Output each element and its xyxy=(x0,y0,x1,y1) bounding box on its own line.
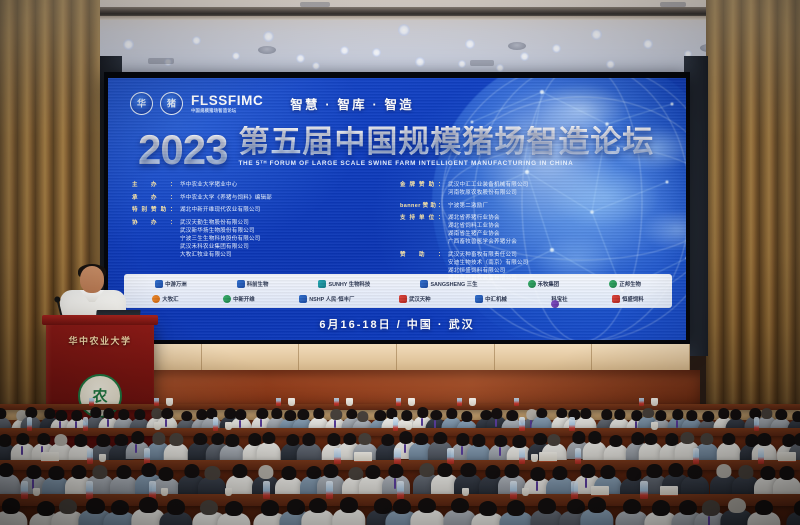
audience-head xyxy=(340,497,358,513)
podium-institution-name: 华中农业大学 xyxy=(46,334,154,347)
water-bottle xyxy=(569,417,575,431)
audience-torso xyxy=(0,474,20,495)
sponsor-logo: SANGSHENG 三生 xyxy=(420,280,477,288)
audience-head xyxy=(623,499,641,515)
ceiling-downlight-icon xyxy=(552,44,561,53)
audience-head xyxy=(580,408,591,419)
credit-value: 武汉天种畜牧有限责任公司 xyxy=(448,252,529,260)
audience-head xyxy=(54,434,67,446)
sponsor-logo-mark-icon xyxy=(237,280,245,288)
audience-head xyxy=(17,433,30,445)
sponsor-logo-mark-icon xyxy=(399,295,407,303)
paper-cup xyxy=(531,454,538,462)
podium-top-edge xyxy=(42,315,158,325)
ceiling-downlight-icon xyxy=(458,60,466,68)
conference-photo: 华 猪 FLSSFIMC 中国规模猪场智造论坛 智慧 · 智库 · 智造 202… xyxy=(0,0,800,525)
paper-cup xyxy=(651,398,658,406)
sponsor-logo-mark-icon xyxy=(528,280,536,288)
ceiling-downlight-icon xyxy=(398,24,410,36)
audience-torso xyxy=(297,443,322,461)
ceiling-vent xyxy=(148,58,174,64)
water-bottle xyxy=(640,481,647,499)
credit-label: 赞助： xyxy=(400,252,444,260)
sponsor-logo-mark-icon xyxy=(318,280,326,288)
sponsor-logo: 科宝社 xyxy=(551,295,567,303)
lanyard xyxy=(21,446,23,455)
credit-value: 宁波第二激励厂 xyxy=(448,203,488,211)
audience-head xyxy=(357,411,368,422)
name-placard xyxy=(591,486,609,496)
credit-row: 特别赞助：湖北中新开维现代农业有限公司 xyxy=(132,207,390,215)
audience-head xyxy=(552,466,567,480)
paper-cup xyxy=(651,422,658,430)
audience-member xyxy=(164,432,189,461)
audience-head xyxy=(538,498,556,514)
audience-torso xyxy=(164,443,189,461)
credit-row: 协办：武汉天勤生物股份有限公司武汉新华扬生物股份有限公司宁波三生生物科技股份有限… xyxy=(132,220,390,260)
audience-head xyxy=(494,435,507,447)
audience-head xyxy=(536,408,547,419)
credit-row: 承办：华中农业大学《养猪与饲料》编辑部 xyxy=(132,195,390,203)
water-bottle xyxy=(83,417,89,431)
forum-title-cn: 第五届中国规模猪场智造论坛 xyxy=(238,126,654,157)
audience-member xyxy=(580,496,614,525)
audience-head xyxy=(200,500,218,516)
credit-values: 华中农业大学《养猪与饲料》编辑部 xyxy=(180,195,272,203)
audience-head xyxy=(139,497,157,513)
audience-head xyxy=(74,434,87,446)
sponsor-logo-mark-icon xyxy=(299,295,307,303)
sponsor-logo-name: NSHP 人民·恒丰厂 xyxy=(309,295,354,303)
audience-torso xyxy=(752,443,777,461)
audience-head xyxy=(131,431,144,443)
audience-head xyxy=(116,465,131,479)
credit-label: 特别赞助： xyxy=(132,207,176,215)
credit-label: 金牌赞助： xyxy=(400,182,444,190)
audience-head xyxy=(366,465,381,479)
audience-member xyxy=(297,433,322,462)
audience-head xyxy=(755,500,773,516)
water-bottle xyxy=(571,481,578,499)
audience-head xyxy=(728,498,746,514)
credit-values: 武汉天勤生物股份有限公司武汉新华扬生物股份有限公司宁波三生生物科技股份有限公司武… xyxy=(180,220,261,260)
audience-head xyxy=(27,465,42,479)
forum-year: 2023 xyxy=(138,132,227,168)
lanyard xyxy=(495,419,497,427)
sponsor-logo: 中游万洲 xyxy=(155,280,187,288)
audience-head xyxy=(730,409,741,420)
audience-head xyxy=(205,466,220,480)
water-bottle xyxy=(754,417,760,431)
audience-head xyxy=(461,411,472,422)
sponsor-logo: NSHP 人民·恒丰厂 xyxy=(299,295,354,303)
ceiling-downlight-icon xyxy=(591,29,602,40)
credit-values: 武汉中汇工业装备机械有限公司河南牧原农牧股份有限公司 xyxy=(448,182,529,198)
paper-cup xyxy=(346,398,353,406)
sponsor-logo-mark-icon xyxy=(612,295,620,303)
sponsor-logo: 科前生物 xyxy=(237,280,269,288)
lanyard xyxy=(708,516,710,525)
event-date-location: 6月16-18日 / 中国 · 武汉 xyxy=(108,316,686,332)
water-bottle xyxy=(154,398,159,406)
water-bottle xyxy=(519,448,525,464)
audience-head xyxy=(415,433,428,445)
water-bottle xyxy=(21,481,28,499)
paper-cup xyxy=(522,488,529,496)
forum-title-en: THE 5ᵀᴴ FORUM OF LARGE SCALE SWINE FARM … xyxy=(238,160,654,167)
ceiling-downlight-icon xyxy=(643,39,653,49)
paper-cup xyxy=(225,488,232,496)
ceiling-downlight-icon xyxy=(520,52,529,61)
lanyard xyxy=(461,446,463,455)
credit-value: 武汉天勤生物股份有限公司 xyxy=(180,220,261,228)
credit-value: 华中农业大学猪业中心 xyxy=(180,182,238,190)
ceiling-downlight-icon xyxy=(192,36,201,45)
audience-head xyxy=(393,499,411,515)
water-bottle xyxy=(693,448,699,464)
audience-head xyxy=(389,464,404,478)
forum-acronym-block: FLSSFIMC 中国规模猪场智造论坛 xyxy=(191,94,263,113)
lanyard xyxy=(536,481,538,491)
audience-member xyxy=(159,499,193,525)
credit-values: 湖北省养猪行业协会湖北省饲料工业协会湖南省生猪产业协会广西畜牧兽医学会养猪分会 xyxy=(448,215,517,247)
screen-credits: 主办：华中农业大学猪业中心承办：华中农业大学《养猪与饲料》编辑部特别赞助：湖北中… xyxy=(132,182,666,283)
paper-cup xyxy=(405,422,412,430)
paper-cup xyxy=(225,422,232,430)
sponsor-logo: 中新开维 xyxy=(223,295,255,303)
sponsor-logo-name: 武汉天种 xyxy=(409,295,431,303)
water-bottle xyxy=(213,417,219,431)
water-bottle xyxy=(447,448,453,464)
audience-head xyxy=(758,433,771,445)
audience-head xyxy=(158,467,173,481)
sponsor-logo-mark-icon xyxy=(609,280,617,288)
audience-head xyxy=(49,466,64,480)
credit-value: 湖北中新开维现代农业有限公司 xyxy=(180,207,261,215)
lanyard xyxy=(404,444,406,453)
ceiling-downlight-icon xyxy=(465,39,475,49)
audience-member xyxy=(198,465,227,497)
audience-head xyxy=(93,465,108,479)
credit-value: 安迪生物技术（南京）有限公司 xyxy=(448,260,529,268)
name-placard xyxy=(539,452,557,462)
credit-label: 承办： xyxy=(132,195,176,203)
audience-head xyxy=(0,463,14,477)
water-bottle xyxy=(396,398,401,406)
audience-head xyxy=(437,463,452,477)
audience-torso xyxy=(716,442,741,460)
audience-torso xyxy=(256,442,281,460)
sponsor-logo: 武汉天种 xyxy=(399,295,431,303)
screen-logo-row: 华 猪 FLSSFIMC 中国规模猪场智造论坛 智慧 · 智库 · 智造 xyxy=(108,92,686,115)
audience-member xyxy=(716,432,741,461)
credit-value: 大牧汇牧业有限公司 xyxy=(180,252,261,260)
name-placard xyxy=(778,452,796,462)
audience-head xyxy=(588,431,601,443)
audience-member xyxy=(220,433,245,462)
ceiling-downlight-icon xyxy=(606,60,615,69)
ceiling-vent xyxy=(660,2,686,7)
ceiling-downlight-icon xyxy=(312,62,320,70)
credit-value: 湖北省饲料工业协会 xyxy=(448,223,517,231)
audience-head xyxy=(111,500,129,516)
audience-head xyxy=(167,499,185,515)
stage-cream-panels xyxy=(104,344,690,370)
audience-member xyxy=(256,431,281,460)
name-placard xyxy=(354,452,372,462)
audience-head xyxy=(418,498,436,514)
audience-member xyxy=(217,500,251,525)
water-bottle xyxy=(575,448,581,464)
audience-head xyxy=(716,464,731,478)
forum-tagline: 智慧 · 智库 · 智造 xyxy=(290,94,414,113)
water-bottle xyxy=(510,481,517,499)
audience-head xyxy=(588,497,606,513)
paper-cup xyxy=(462,488,469,496)
ceiling-downlight-icon xyxy=(263,31,274,42)
audience-head xyxy=(702,500,720,516)
ceiling-downlight-icon xyxy=(232,52,240,60)
audience-member xyxy=(681,464,710,496)
credit-value: 武汉禾科农业集团有限公司 xyxy=(180,244,261,252)
water-bottle xyxy=(276,398,281,406)
audience-head xyxy=(647,464,662,478)
audience-head xyxy=(601,465,616,479)
ceiling-vent xyxy=(300,2,330,7)
sponsor-logo-mark-icon xyxy=(551,300,559,308)
audience-head xyxy=(779,466,794,480)
sponsor-logo-name: 中游万洲 xyxy=(165,280,187,288)
ceiling-speaker-icon xyxy=(258,46,276,54)
audience-head xyxy=(330,409,341,420)
water-bottle xyxy=(394,448,400,464)
audience-head xyxy=(233,464,248,478)
audience-head xyxy=(507,410,518,421)
forum-acronym-subtitle: 中国规模猪场智造论坛 xyxy=(191,109,263,113)
sponsor-logo-name: 中新开维 xyxy=(233,295,255,303)
audience-member xyxy=(410,497,444,525)
audience-head xyxy=(451,498,469,514)
credit-row: 支持单位：湖北省养猪行业协会湖北省饲料工业协会湖南省生猪产业协会广西畜牧兽医学会… xyxy=(400,215,650,247)
sponsor-logo: 恒盛饲料 xyxy=(612,295,644,303)
sponsor-logo-mark-icon xyxy=(152,295,160,303)
audience-head xyxy=(401,410,412,421)
water-bottle xyxy=(86,481,93,499)
paper-cup xyxy=(33,488,40,496)
sponsor-logo-name: 中汇机械 xyxy=(485,295,507,303)
ceiling-downlight-icon xyxy=(372,48,381,57)
audience-head xyxy=(323,464,338,478)
audience-head xyxy=(235,409,246,420)
lanyard xyxy=(239,420,241,428)
water-bottle xyxy=(519,417,525,431)
audience-head xyxy=(309,498,327,514)
audience-head xyxy=(531,467,546,481)
audience-head xyxy=(71,410,82,421)
credits-column-left: 主办：华中农业大学猪业中心承办：华中农业大学《养猪与饲料》编辑部特别赞助：湖北中… xyxy=(132,182,390,283)
lanyard xyxy=(394,478,396,488)
lanyard xyxy=(499,447,501,456)
water-bottle xyxy=(27,417,33,431)
credit-value: 宁波三生生物科技股份有限公司 xyxy=(180,236,261,244)
credit-label: 协办： xyxy=(132,220,176,228)
sponsor-logo-name: SUNHY 生物科技 xyxy=(328,280,370,288)
credit-row: 金牌赞助：武汉中汇工业装备机械有限公司河南牧原农牧股份有限公司 xyxy=(400,182,650,198)
audience-head xyxy=(170,433,183,445)
sponsor-logo-mark-icon xyxy=(155,280,163,288)
audience-head xyxy=(794,500,800,516)
credit-row: banner赞助：宁波第二激励厂 xyxy=(400,203,650,211)
credit-value: 华中农业大学《养猪与饲料》编辑部 xyxy=(180,195,272,203)
audience-head xyxy=(504,464,519,478)
audience-member xyxy=(747,499,781,525)
water-bottle xyxy=(393,417,399,431)
lanyard xyxy=(421,418,423,426)
credit-label: banner赞助： xyxy=(400,203,444,211)
sponsor-logo-name: 禾牧集团 xyxy=(538,280,560,288)
lanyard xyxy=(135,444,137,453)
name-placard xyxy=(660,486,678,496)
sponsor-logo-row-1: 中游万洲科前生物SUNHY 生物科技SANGSHENG 三生禾牧集团正邦生物 xyxy=(130,277,666,290)
sponsor-logo-mark-icon xyxy=(420,280,428,288)
audience-member xyxy=(499,499,533,525)
screen-title-block: 2023 第五届中国规模猪场智造论坛 THE 5ᵀᴴ FORUM OF LARG… xyxy=(138,126,654,168)
audience-head xyxy=(609,435,622,447)
lanyard xyxy=(585,478,587,488)
audience-head xyxy=(614,409,625,420)
ceiling-lip xyxy=(0,16,800,20)
sponsor-logo-name: 恒盛饲料 xyxy=(622,295,644,303)
sponsor-logo-mark-icon xyxy=(223,295,231,303)
audience-head xyxy=(738,465,753,479)
audience-head xyxy=(651,500,669,516)
audience-head xyxy=(434,432,447,444)
sponsor-logo: 大牧汇 xyxy=(152,295,178,303)
credit-label: 主办： xyxy=(132,182,176,190)
credit-value: 湖北省养猪行业协会 xyxy=(448,215,517,223)
credit-value: 湖南省生猪产业协会 xyxy=(448,231,517,239)
water-bottle xyxy=(334,448,340,464)
credit-value: 广西畜牧兽医学会养猪分会 xyxy=(448,239,517,247)
sponsor-logo: 禾牧集团 xyxy=(528,280,560,288)
name-placard xyxy=(41,452,59,462)
paper-cup xyxy=(288,398,295,406)
sponsor-logo: 中汇机械 xyxy=(475,295,507,303)
paper-cup xyxy=(408,398,415,406)
university-emblem-icon: 华 xyxy=(130,92,153,115)
lanyard xyxy=(165,419,167,427)
audience-head xyxy=(655,410,666,421)
audience-head xyxy=(776,409,787,420)
water-bottle xyxy=(397,481,404,499)
audience-head xyxy=(644,433,657,445)
credit-value: 武汉新华扬生物股份有限公司 xyxy=(180,228,261,236)
audience-member xyxy=(0,462,21,494)
audience-member xyxy=(332,496,366,525)
ceiling-downlight-icon xyxy=(296,54,305,63)
audience-head xyxy=(2,498,20,514)
ceiling-vent xyxy=(470,60,494,66)
forum-acronym: FLSSFIMC xyxy=(191,94,263,108)
audience-head xyxy=(479,501,497,517)
credit-row: 主办：华中农业大学猪业中心 xyxy=(132,182,390,190)
audience-member xyxy=(786,499,800,525)
paper-cup xyxy=(99,454,106,462)
paper-cup xyxy=(161,488,168,496)
audience-head xyxy=(688,465,703,479)
sponsor-logo: SUNHY 生物科技 xyxy=(318,280,370,288)
credit-label: 支持单位： xyxy=(400,215,444,223)
audience-member xyxy=(773,465,800,497)
audience-head xyxy=(258,465,273,479)
credits-column-right: 金牌赞助：武汉中汇工业装备机械有限公司河南牧原农牧股份有限公司banner赞助：… xyxy=(400,182,650,283)
audience-head xyxy=(262,432,275,444)
water-bottle xyxy=(263,481,270,499)
audience-member xyxy=(0,498,28,525)
lanyard xyxy=(107,419,109,427)
audience-member xyxy=(752,433,777,462)
water-bottle xyxy=(514,398,519,406)
audience-head xyxy=(795,433,800,445)
audience-head xyxy=(302,433,315,445)
sponsor-logo-band: 中游万洲科前生物SUNHY 生物科技SANGSHENG 三生禾牧集团正邦生物 大… xyxy=(124,274,672,308)
audience-head xyxy=(507,500,525,516)
audience-head xyxy=(86,498,104,514)
paper-cup xyxy=(166,398,173,406)
audience-head xyxy=(548,434,561,446)
credit-values: 华中农业大学猪业中心 xyxy=(180,182,238,190)
water-bottle xyxy=(87,448,93,464)
audience-head xyxy=(282,466,297,480)
led-screen: 华 猪 FLSSFIMC 中国规模猪场智造论坛 智慧 · 智库 · 智造 202… xyxy=(108,78,686,340)
audience-head xyxy=(513,435,526,447)
water-bottle xyxy=(639,398,644,406)
sponsor-logo-name: SANGSHENG 三生 xyxy=(430,280,477,288)
audience-head xyxy=(700,433,713,445)
sponsor-logo-name: 正邦生物 xyxy=(619,280,641,288)
paper-cup xyxy=(469,398,476,406)
audience-head xyxy=(225,501,243,517)
audience-head xyxy=(261,500,279,516)
credit-values: 湖北中新开维现代农业有限公司 xyxy=(180,207,261,215)
sponsor-logo-name: 科前生物 xyxy=(247,280,269,288)
speaker-head xyxy=(80,266,104,293)
credit-value: 武汉中汇工业装备机械有限公司 xyxy=(448,182,529,190)
paper-cup xyxy=(154,422,161,430)
audience-head xyxy=(226,434,239,446)
sponsor-logo-name: 大牧汇 xyxy=(162,295,178,303)
audience-head xyxy=(461,463,476,477)
ceiling-speaker-icon xyxy=(508,42,526,50)
audience-head xyxy=(71,465,86,479)
audience-head xyxy=(358,433,371,445)
audience-head xyxy=(681,432,694,444)
ceiling-downlight-icon xyxy=(415,57,425,67)
credit-values: 宁波第二激励厂 xyxy=(448,203,488,211)
water-bottle xyxy=(89,398,94,406)
audience-head xyxy=(59,499,77,515)
ceiling-downlight-icon xyxy=(496,64,504,72)
lanyard xyxy=(260,419,262,427)
audience-head xyxy=(792,411,800,422)
audience-head xyxy=(722,433,735,445)
sponsor-logo-mark-icon xyxy=(475,295,483,303)
water-bottle xyxy=(457,398,462,406)
forum-emblem-icon: 猪 xyxy=(160,92,183,115)
audience-head xyxy=(313,408,324,419)
audience-head xyxy=(686,410,697,421)
lanyard xyxy=(676,420,678,428)
